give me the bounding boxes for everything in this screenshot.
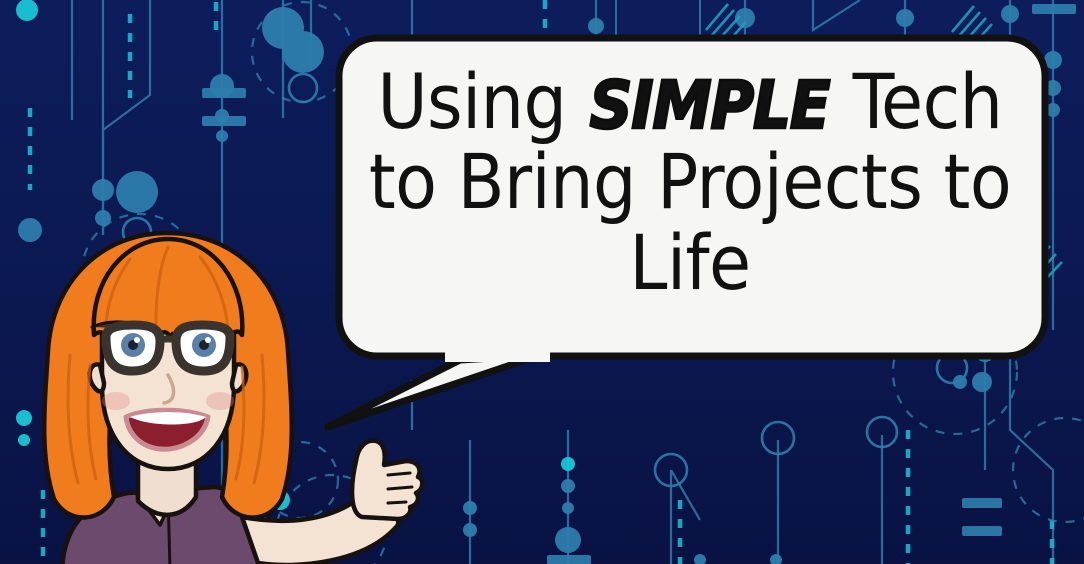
bubble-line-3: Life bbox=[355, 226, 1025, 300]
avatar-hand bbox=[352, 441, 422, 519]
speech-bubble-seam bbox=[445, 340, 550, 362]
bubble-line-2: to Bring Projects to bbox=[355, 145, 1025, 219]
bubble-line-1: Using SIMPLE Tech bbox=[355, 65, 1025, 139]
avatar bbox=[10, 225, 440, 564]
avatar-illustration bbox=[10, 225, 440, 564]
bubble-line-1-part-3: Tech bbox=[831, 57, 1002, 146]
bubble-line-1-part-1: Using bbox=[377, 57, 587, 146]
avatar-ear-left bbox=[90, 364, 104, 391]
speech-bubble-text: Using SIMPLE Tech to Bring Projects to L… bbox=[355, 65, 1025, 300]
slide-canvas: Using SIMPLE Tech to Bring Projects to L… bbox=[0, 0, 1084, 564]
bubble-emphasis-simple: SIMPLE bbox=[588, 67, 832, 144]
